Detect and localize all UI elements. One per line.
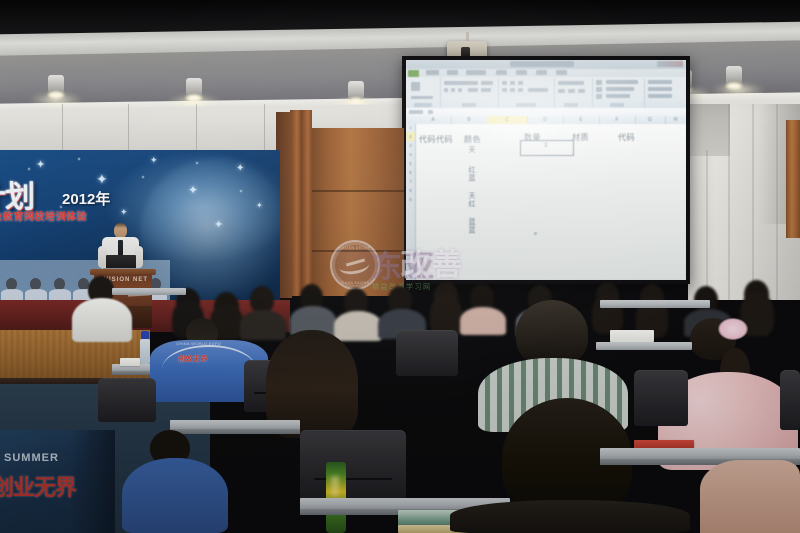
row-number[interactable]: 4 [406, 151, 415, 159]
insert-cells-button[interactable] [648, 80, 672, 84]
delete-cells-button[interactable] [648, 87, 672, 91]
row-number[interactable]: 7 [406, 178, 415, 186]
table-style-icon[interactable] [596, 87, 602, 92]
row-number[interactable]: 1 [406, 124, 415, 132]
wall-tile-seam [196, 104, 197, 150]
water-bottle [140, 338, 150, 366]
row-number[interactable]: 3 [406, 142, 415, 150]
desk-edge [600, 459, 800, 465]
align-right-icon[interactable] [518, 88, 523, 92]
lower-left-banner: SUMMER 创业无界 [0, 430, 115, 533]
paste-icon[interactable] [411, 82, 420, 91]
align-left-icon[interactable] [502, 88, 507, 92]
selected-cell-value[interactable]: 3 [544, 143, 547, 149]
wood-panel-seam [312, 190, 404, 192]
sheet-cell-color-1[interactable]: 天 [466, 146, 476, 154]
curtain-valance [688, 104, 730, 156]
projected-spreadsheet-app: A B C D E F G H 1 2 3 4 5 6 7 8 9 代码代码 颜… [406, 60, 686, 280]
column-header-g[interactable]: G [635, 116, 666, 124]
banner-star [28, 168, 30, 170]
audience-hair [740, 292, 774, 336]
sheet-label-code[interactable]: 代码代码 [419, 134, 453, 145]
audience-shoulders [334, 311, 382, 341]
row-number[interactable]: 8 [406, 187, 415, 195]
banner-star [240, 190, 242, 192]
banner-star [196, 162, 198, 164]
chair-back[interactable] [634, 370, 688, 426]
row-number[interactable]: 5 [406, 160, 415, 168]
number-format-dropdown[interactable] [558, 81, 584, 85]
wood-panel-seam [312, 250, 404, 252]
desk-paper [120, 358, 140, 366]
fill-color-icon[interactable] [481, 88, 491, 92]
merge-cells-button[interactable] [528, 88, 548, 92]
conditional-format-label[interactable] [606, 80, 638, 84]
row-number[interactable]: 6 [406, 169, 415, 177]
chair-back[interactable] [780, 370, 800, 430]
percent-icon[interactable] [568, 89, 575, 93]
lecture-hall-photo: A B C D E F G H 1 2 3 4 5 6 7 8 9 代码代码 颜… [0, 0, 800, 533]
column-header-b[interactable]: B [451, 116, 488, 124]
cell-style-label[interactable] [606, 94, 630, 98]
name-box[interactable] [409, 110, 423, 114]
lower-banner-shadow [70, 430, 115, 533]
sheet-label-color[interactable]: 颜色 [464, 134, 481, 145]
lower-banner-white-text: SUMMER [4, 452, 59, 464]
banner-sparkle-icon: ✦ [256, 202, 263, 210]
tab-review[interactable] [536, 70, 547, 75]
ceiling-spotlight [186, 78, 202, 98]
banner-year: 2012年 [62, 188, 110, 209]
wall-flute-column [290, 110, 312, 296]
desk-row-back [112, 288, 186, 295]
conditional-format-icon[interactable] [596, 80, 602, 85]
audience-shoulders [450, 500, 690, 533]
sheet-label-code2[interactable]: 代码 [618, 132, 635, 143]
curtain-fold [706, 150, 708, 300]
column-header-c[interactable]: C [487, 116, 528, 124]
column-header-d[interactable]: D [527, 116, 564, 124]
tab-data[interactable] [516, 70, 527, 75]
projection-screen[interactable]: A B C D E F G H 1 2 3 4 5 6 7 8 9 代码代码 颜… [406, 60, 686, 280]
banner-subtitle: 职业教育网校培训体验 [0, 208, 87, 223]
tab-page-layout[interactable] [466, 70, 486, 75]
photo-person-body [1, 289, 23, 300]
ceiling-spotlight [726, 66, 742, 86]
sheet-marker [534, 232, 537, 235]
app-window-title [510, 61, 574, 67]
desk-paper [610, 330, 654, 342]
foreground-arm [700, 460, 800, 533]
font-name-box[interactable] [444, 81, 478, 85]
format-cells-button[interactable] [648, 94, 672, 98]
column-header-a[interactable]: A [415, 116, 452, 124]
audience-shoulders [240, 310, 286, 340]
chair-back[interactable] [98, 378, 156, 422]
italic-icon[interactable] [451, 88, 455, 92]
tab-view[interactable] [556, 70, 567, 75]
tab-formulas[interactable] [496, 70, 507, 75]
wood-wall-panel [312, 128, 404, 296]
underline-icon[interactable] [458, 88, 462, 92]
wall-tile-seam [62, 104, 63, 150]
chair-back[interactable] [300, 430, 406, 500]
tab-file[interactable] [408, 70, 419, 77]
photo-person-body [49, 289, 71, 300]
column-header-h[interactable]: H [665, 116, 686, 124]
banner-sparkle-icon: ✦ [188, 184, 198, 196]
insert-function-icon[interactable] [428, 110, 433, 114]
podium-laptop-screen[interactable] [106, 255, 136, 269]
clipboard-row[interactable] [411, 96, 433, 99]
bold-icon[interactable] [444, 88, 448, 92]
audience-head [516, 300, 588, 366]
banner-sparkle-icon: ✦ [96, 172, 108, 186]
audience-shoulders [72, 298, 132, 342]
row-number[interactable]: 9 [406, 196, 415, 204]
wall-tile-seam [264, 104, 265, 150]
ceiling-spotlight [348, 81, 364, 101]
ceiling-spotlight [48, 75, 64, 95]
align-middle-icon[interactable] [510, 81, 515, 85]
row-number[interactable]: 2 [406, 133, 415, 141]
wall-tile-seam [128, 104, 129, 150]
align-top-icon[interactable] [502, 81, 507, 85]
table-style-label[interactable] [606, 87, 634, 91]
audience-shoulders [122, 458, 228, 533]
desk-row-right-2 [596, 342, 692, 350]
chair-back[interactable] [396, 330, 458, 376]
jacket-top-text: CHINA WORLD EXPO [176, 341, 221, 346]
desk-edge [170, 429, 300, 434]
sheet-cell-color-2[interactable]: 红蓝 [466, 166, 476, 182]
jacket-main-text: 创效无界 [178, 354, 208, 364]
photo-person-body [25, 289, 47, 300]
sheet-label-material[interactable]: 材质 [572, 132, 589, 143]
ribbon-group-label [564, 103, 578, 107]
bottle-cap [141, 331, 149, 339]
curtain-fold [728, 104, 730, 300]
banner-sparkle-icon: ✦ [236, 164, 244, 174]
tab-insert[interactable] [447, 70, 458, 75]
banner-sparkle-icon: ✦ [36, 160, 45, 171]
banner-star [78, 158, 80, 160]
ribbon-group-label [414, 103, 432, 107]
align-bottom-icon[interactable] [518, 81, 523, 85]
speaker-head [114, 223, 127, 238]
column-header-e[interactable]: E [563, 116, 600, 124]
ribbon-group-label [610, 103, 624, 107]
sheet-cell-color-3[interactable]: 天红 [466, 192, 476, 208]
border-icon[interactable] [468, 88, 478, 92]
column-header-f[interactable]: F [599, 116, 636, 124]
font-size-box[interactable] [481, 81, 493, 85]
audience-shoulders [460, 307, 506, 335]
banner-star [142, 176, 144, 178]
desk-row-right [600, 300, 710, 308]
currency-icon[interactable] [558, 89, 565, 93]
right-wood-trim [786, 120, 800, 238]
align-center-icon[interactable] [510, 88, 515, 92]
comma-icon[interactable] [578, 89, 585, 93]
ribbon-group-label [462, 103, 476, 107]
banner-sparkle-icon: ✦ [120, 208, 128, 217]
tab-home[interactable] [426, 70, 439, 75]
lower-banner-red-text: 创业无界 [0, 470, 76, 502]
window-controls[interactable] [657, 61, 683, 67]
curtain-fold [776, 104, 778, 300]
banner-sparkle-icon: ✦ [214, 220, 223, 231]
banner-sparkle-icon: ✦ [150, 156, 158, 165]
ribbon-group-label [516, 103, 536, 107]
cell-style-icon[interactable] [596, 94, 602, 99]
curtain-fold [752, 104, 754, 300]
sheet-cell-color-4[interactable]: 蓝蓝 [466, 218, 476, 234]
